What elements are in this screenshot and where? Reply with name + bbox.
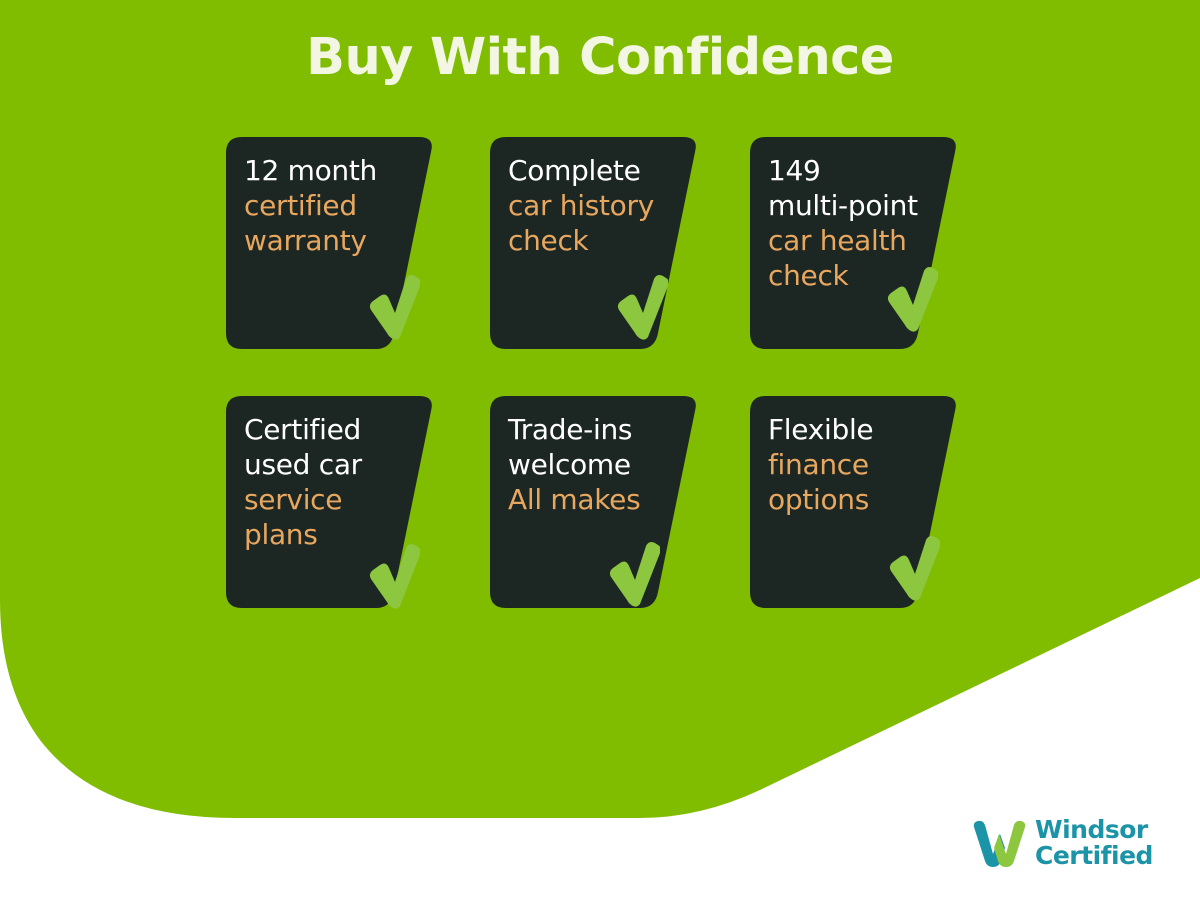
card-line: welcome <box>508 447 698 482</box>
card-line: car history <box>508 188 698 223</box>
card-line: 12 month <box>244 153 434 188</box>
card-text: Flexible finance options <box>768 412 958 517</box>
benefit-card[interactable]: Trade-ins welcome All makes <box>490 396 712 608</box>
benefit-card[interactable]: 149 multi-point car health check <box>750 137 972 349</box>
check-icon <box>608 542 660 608</box>
card-line: All makes <box>508 482 698 517</box>
check-icon <box>368 275 420 341</box>
check-icon <box>616 275 668 341</box>
benefit-card[interactable]: Complete car history check <box>490 137 712 349</box>
card-line: Flexible <box>768 412 958 447</box>
windsor-certified-logo[interactable]: Windsor Certified <box>972 812 1162 874</box>
page-title: Buy With Confidence <box>0 27 1200 89</box>
card-line: certified <box>244 188 434 223</box>
logo-line-certified: Certified <box>1035 843 1153 869</box>
logo-line-windsor: Windsor <box>1035 817 1153 843</box>
card-line: Complete <box>508 153 698 188</box>
card-line: warranty <box>244 223 434 258</box>
card-line: finance <box>768 447 958 482</box>
card-line: service <box>244 482 434 517</box>
card-text: Trade-ins welcome All makes <box>508 412 698 517</box>
card-line: Certified <box>244 412 434 447</box>
card-line: Trade-ins <box>508 412 698 447</box>
card-line: 149 <box>768 153 958 188</box>
card-line: check <box>508 223 698 258</box>
card-text: 12 month certified warranty <box>244 153 434 258</box>
card-line: options <box>768 482 958 517</box>
check-icon <box>888 536 940 602</box>
card-line: multi-point <box>768 188 958 223</box>
card-line: used car <box>244 447 434 482</box>
benefit-card[interactable]: Certified used car service plans <box>226 396 448 608</box>
benefit-card-grid: 12 month certified warranty Complete car… <box>0 0 1200 900</box>
poster-canvas: Buy With Confidence 12 month certified w… <box>0 0 1200 900</box>
windsor-w-icon <box>972 818 1028 868</box>
benefit-card[interactable]: 12 month certified warranty <box>226 137 448 349</box>
card-text: Certified used car service plans <box>244 412 434 552</box>
card-text: Complete car history check <box>508 153 698 258</box>
logo-wordmark: Windsor Certified <box>1035 817 1153 869</box>
check-icon <box>886 267 938 333</box>
card-line: car health <box>768 223 958 258</box>
check-icon <box>368 544 420 610</box>
benefit-card[interactable]: Flexible finance options <box>750 396 972 608</box>
